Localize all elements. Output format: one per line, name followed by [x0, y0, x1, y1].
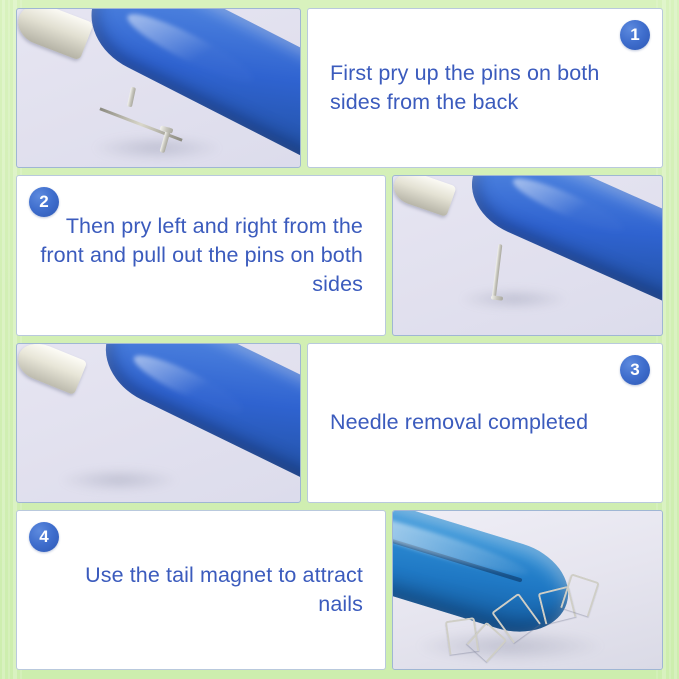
- tool-illustration-1: [17, 9, 300, 167]
- step-1-instruction: First pry up the pins on both sides from…: [308, 59, 662, 117]
- infographic-page: 1 First pry up the pins on both sides fr…: [0, 0, 679, 679]
- step-row-2: 2 Then pry left and right from the front…: [16, 175, 663, 335]
- tool-illustration-4: [393, 511, 662, 669]
- tool-illustration-3: [17, 344, 300, 502]
- tool-illustration-2: [393, 176, 662, 334]
- step-2-instruction: Then pry left and right from the front a…: [17, 212, 385, 300]
- step-row-3: 3 Needle removal completed: [16, 343, 663, 503]
- step-1-text-card: 1 First pry up the pins on both sides fr…: [307, 8, 663, 168]
- step-3-instruction: Needle removal completed: [308, 408, 662, 437]
- step-2-text-card: 2 Then pry left and right from the front…: [16, 175, 386, 335]
- step-4-photo: [392, 510, 663, 670]
- step-4-instruction: Use the tail magnet to attract nails: [17, 561, 385, 619]
- step-badge-1: 1: [620, 20, 650, 50]
- step-2-photo: [392, 175, 663, 335]
- step-row-1: 1 First pry up the pins on both sides fr…: [16, 8, 663, 168]
- step-badge-3: 3: [620, 355, 650, 385]
- step-4-text-card: 4 Use the tail magnet to attract nails: [16, 510, 386, 670]
- step-3-photo: [16, 343, 301, 503]
- step-row-4: 4 Use the tail magnet to attract nails: [16, 510, 663, 670]
- step-badge-4: 4: [29, 522, 59, 552]
- step-3-text-card: 3 Needle removal completed: [307, 343, 663, 503]
- steps-grid: 1 First pry up the pins on both sides fr…: [16, 8, 663, 670]
- step-1-photo: [16, 8, 301, 168]
